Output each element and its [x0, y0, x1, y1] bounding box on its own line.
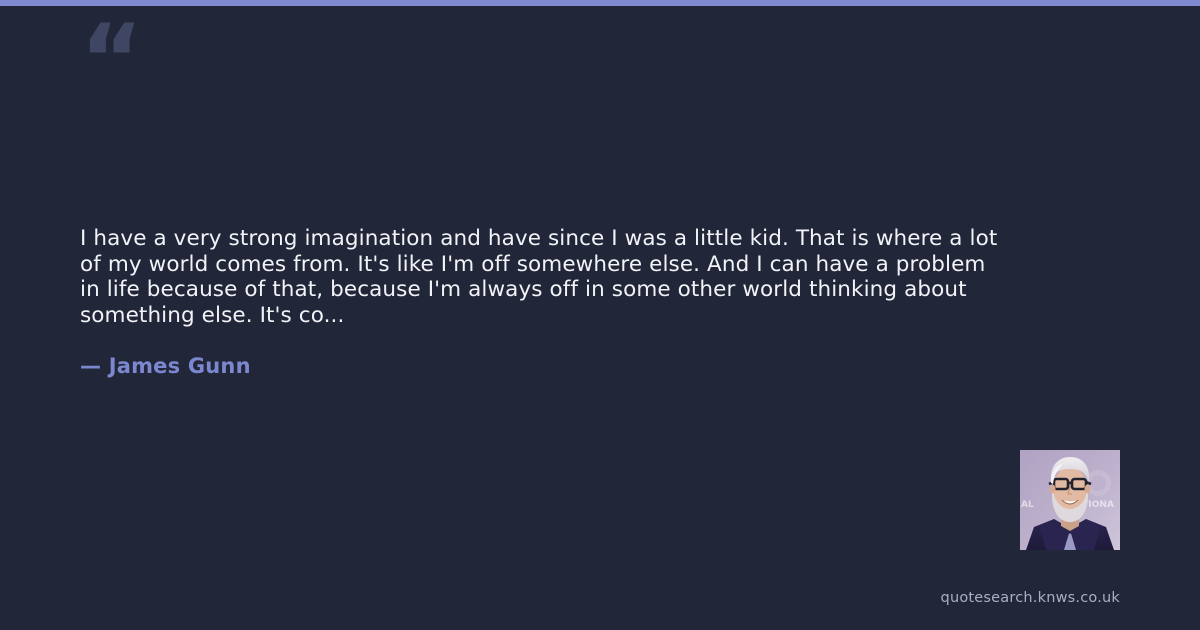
author-photo: AL ATIONA: [1020, 450, 1120, 550]
quote-mark-icon: “: [80, 12, 141, 108]
top-accent-bar: [0, 0, 1200, 6]
quote-text: I have a very strong imagination and hav…: [80, 226, 1000, 328]
quote-attribution: — James Gunn: [80, 354, 251, 378]
photo-backdrop-text-left: AL: [1021, 500, 1034, 510]
source-url: quotesearch.knws.co.uk: [941, 590, 1120, 606]
quote-card: “ I have a very strong imagination and h…: [0, 0, 1200, 630]
